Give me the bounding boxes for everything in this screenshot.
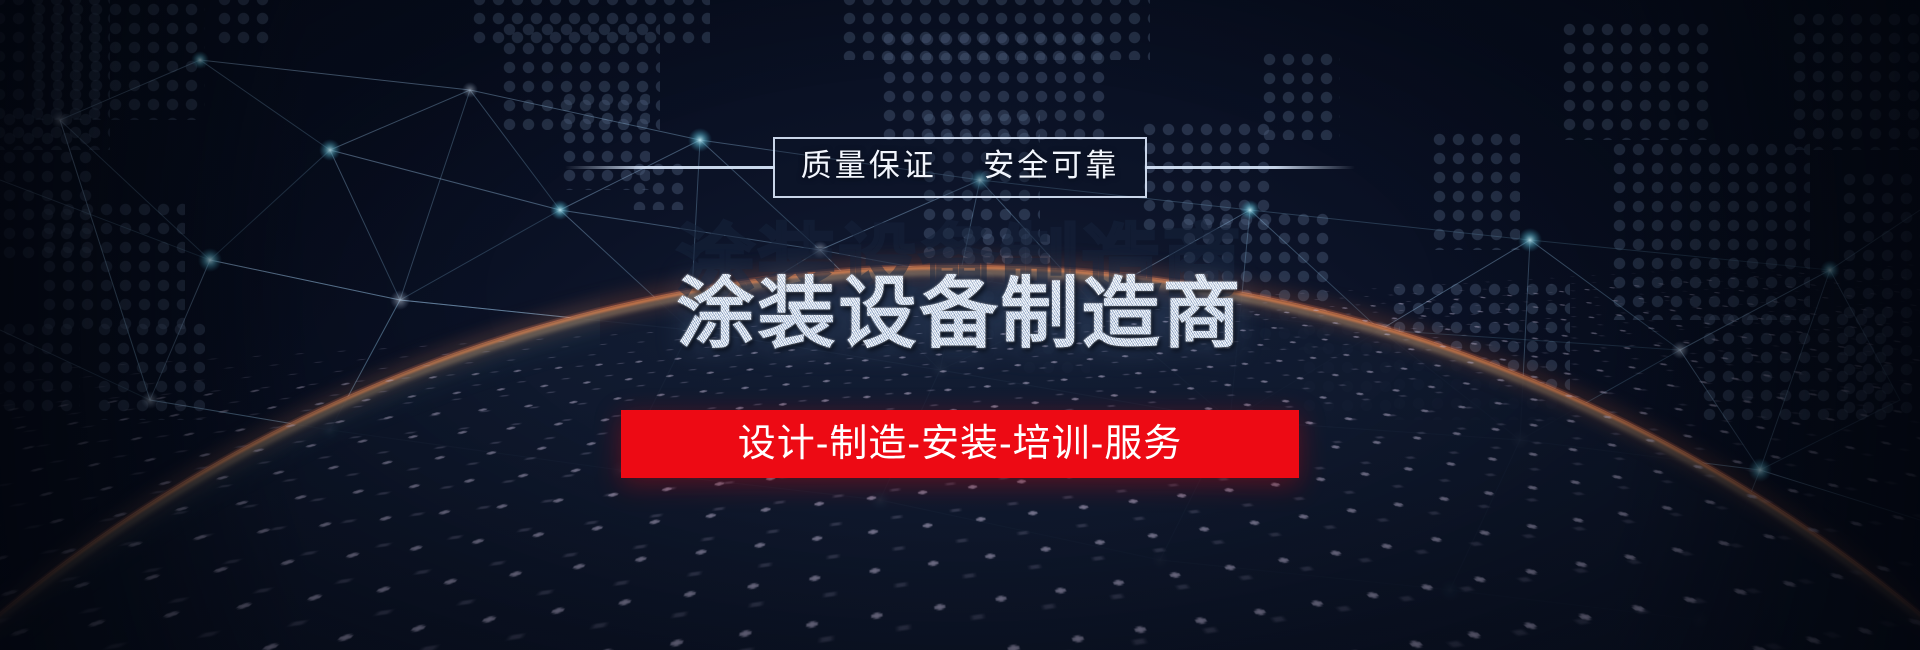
services-bar: 设计-制造-安装-培训-服务	[621, 410, 1299, 478]
page-title: 涂装设备制造商	[676, 274, 1243, 352]
banner-content: 质量保证 安全可靠 涂装设备制造商 涂装设备制造商 设计-制造-安装-培训-服务	[0, 0, 1920, 650]
slogan-rule-left	[565, 166, 775, 169]
services-bar-text: 设计-制造-安装-培训-服务	[738, 425, 1183, 463]
slogan-rule-right	[1145, 166, 1355, 169]
hero-banner: 质量保证 安全可靠 涂装设备制造商 涂装设备制造商 设计-制造-安装-培训-服务	[0, 0, 1920, 650]
slogan-text: 质量保证 安全可靠	[801, 148, 1119, 184]
slogan-row: 质量保证 安全可靠	[565, 137, 1355, 198]
slogan-box: 质量保证 安全可靠	[773, 137, 1147, 198]
